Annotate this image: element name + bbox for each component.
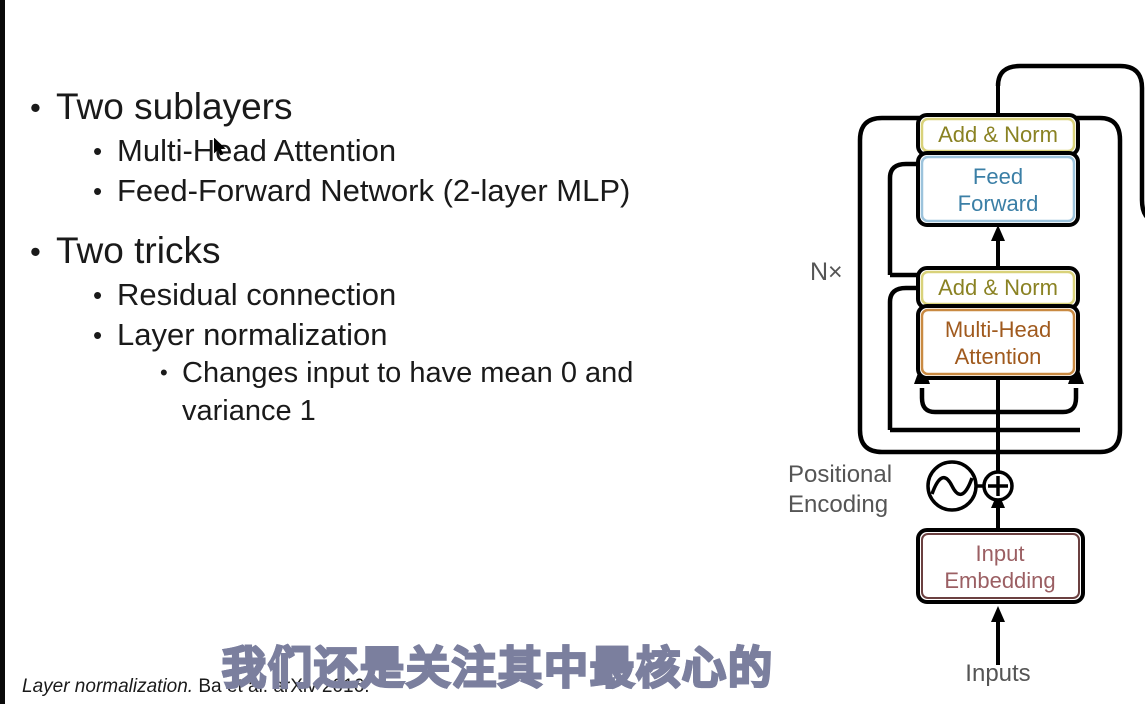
block-multi-head-attention: Multi-Head Attention (918, 306, 1078, 378)
subtitle-overlay: 我们还是关注其中最核心的 (222, 632, 774, 696)
bullet-item-two-tricks: • Two tricks (30, 228, 830, 273)
arrow-into-feed-forward (991, 225, 1005, 241)
arrow-inputs-to-embedding (991, 606, 1005, 622)
bullet-dot-icon: • (93, 171, 117, 204)
bullet-dot-icon: • (160, 355, 182, 384)
bullet-item-two-sublayers: • Two sublayers (30, 84, 830, 129)
sine-wave-circle-icon (928, 462, 976, 510)
qkv-left-branch (922, 388, 998, 412)
bullet-label: Multi-Head Attention (117, 131, 830, 171)
block-add-norm-top: Add & Norm (918, 115, 1078, 155)
circle-plus-icon (984, 472, 1012, 500)
positional-encoding-label-line1: Positional (788, 461, 892, 488)
block-label-feed-forward-line2: Forward (958, 191, 1039, 216)
block-label-add-norm-top: Add & Norm (938, 122, 1058, 147)
block-label-multi-head-line2: Attention (955, 344, 1042, 369)
bullet-label: Two sublayers (56, 84, 830, 129)
bullet-item-feed-forward-network: • Feed-Forward Network (2-layer MLP) (93, 171, 830, 211)
bullet-item-layer-normalization: • Layer normalization (93, 315, 830, 355)
block-label-input-embedding-line1: Input (976, 541, 1025, 566)
block-label-add-norm-bottom: Add & Norm (938, 275, 1058, 300)
bullet-dot-icon: • (93, 131, 117, 164)
block-label-input-embedding-line2: Embedding (944, 568, 1055, 593)
block-label-multi-head-line1: Multi-Head (945, 317, 1051, 342)
bullet-dot-icon: • (30, 84, 56, 123)
bullet-dot-icon: • (30, 228, 56, 267)
slide-left-edge-strip (0, 0, 5, 704)
block-label-feed-forward-line1: Feed (973, 164, 1023, 189)
bullet-label: Residual connection (117, 275, 830, 315)
block-add-norm-bottom: Add & Norm (918, 268, 1078, 308)
bullet-item-residual-connection: • Residual connection (93, 275, 830, 315)
bullet-item-multi-head-attention: • Multi-Head Attention (93, 131, 830, 171)
inputs-label: Inputs (965, 660, 1030, 687)
bullet-label: Two tricks (56, 228, 830, 273)
bullet-item-changes-input-mean-variance: • Changes input to have mean 0 and varia… (160, 355, 830, 429)
bullet-group-spacer (30, 212, 830, 228)
encoder-stack-bracket-right (1100, 118, 1120, 452)
bullet-list: • Two sublayers • Multi-Head Attention •… (30, 84, 830, 430)
block-input-embedding: Input Embedding (918, 530, 1083, 602)
bullet-label: Layer normalization (117, 315, 830, 355)
bullet-dot-icon: • (93, 275, 117, 308)
block-feed-forward: Feed Forward (918, 153, 1078, 225)
transformer-architecture-diagram: Add & Norm Feed Forward Add & Norm Multi… (780, 40, 1145, 704)
footnote-title: Layer normalization. (22, 676, 193, 697)
bullet-label: Feed-Forward Network (2-layer MLP) (117, 171, 830, 211)
encoder-repeat-label: N× (810, 258, 843, 286)
bullet-dot-icon: • (93, 315, 117, 348)
bullet-label: Changes input to have mean 0 and varianc… (182, 355, 642, 429)
slide-canvas: • Two sublayers • Multi-Head Attention •… (0, 0, 1145, 704)
qkv-right-branch (998, 388, 1076, 412)
positional-encoding-label-line2: Encoding (788, 491, 888, 518)
